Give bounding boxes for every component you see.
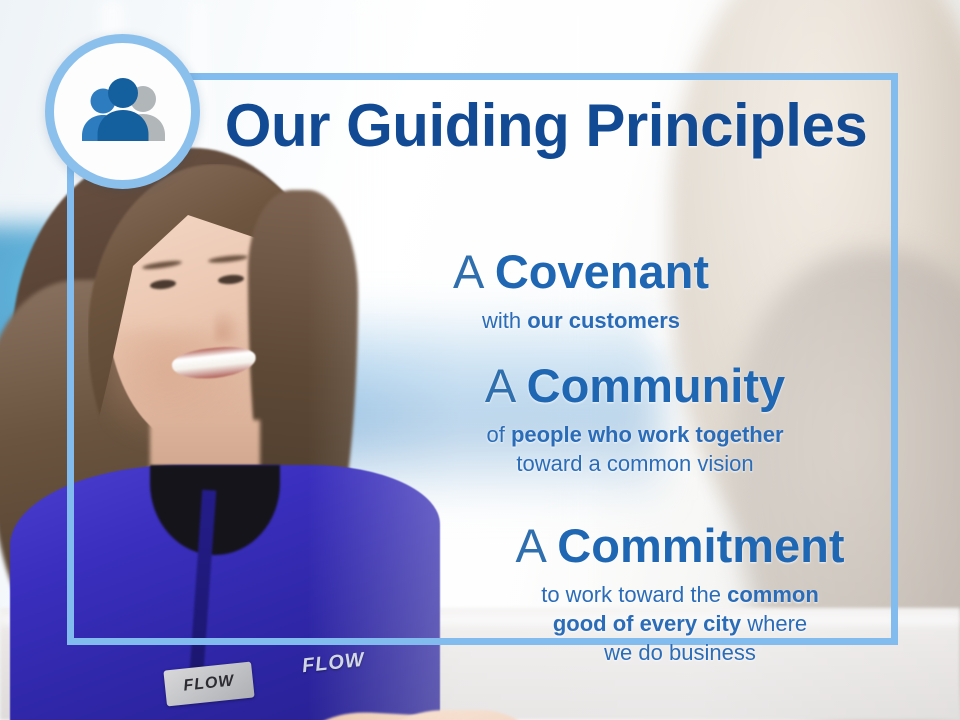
principle-covenant: A Covenant with our customers bbox=[296, 248, 866, 335]
name-badge-text: FLOW bbox=[183, 672, 236, 695]
principle-subtext: with our customers bbox=[296, 306, 866, 335]
principle-article: A bbox=[515, 519, 544, 572]
people-badge bbox=[45, 34, 200, 189]
principle-heading: A Community bbox=[350, 362, 920, 411]
principle-subtext: of people who work togethertoward a comm… bbox=[350, 420, 920, 478]
people-group-icon bbox=[73, 77, 173, 147]
principle-heading: A Covenant bbox=[296, 248, 866, 297]
principle-word: Covenant bbox=[495, 245, 709, 298]
principle-article: A bbox=[485, 359, 514, 412]
principle-word: Community bbox=[527, 359, 786, 412]
principle-commitment: A Commitment to work toward the commongo… bbox=[394, 522, 960, 667]
principle-word: Commitment bbox=[557, 519, 844, 572]
principle-article: A bbox=[453, 245, 482, 298]
text-content: Our Guiding Principles A Covenant with o… bbox=[200, 70, 900, 650]
promo-graphic: FLOW FLOW Our Guiding Principles bbox=[0, 0, 960, 720]
page-title: Our Guiding Principles bbox=[200, 96, 892, 156]
principle-heading: A Commitment bbox=[394, 522, 960, 571]
principle-community: A Community of people who work togethert… bbox=[350, 362, 920, 478]
principle-subtext: to work toward the commongood of every c… bbox=[394, 580, 960, 667]
